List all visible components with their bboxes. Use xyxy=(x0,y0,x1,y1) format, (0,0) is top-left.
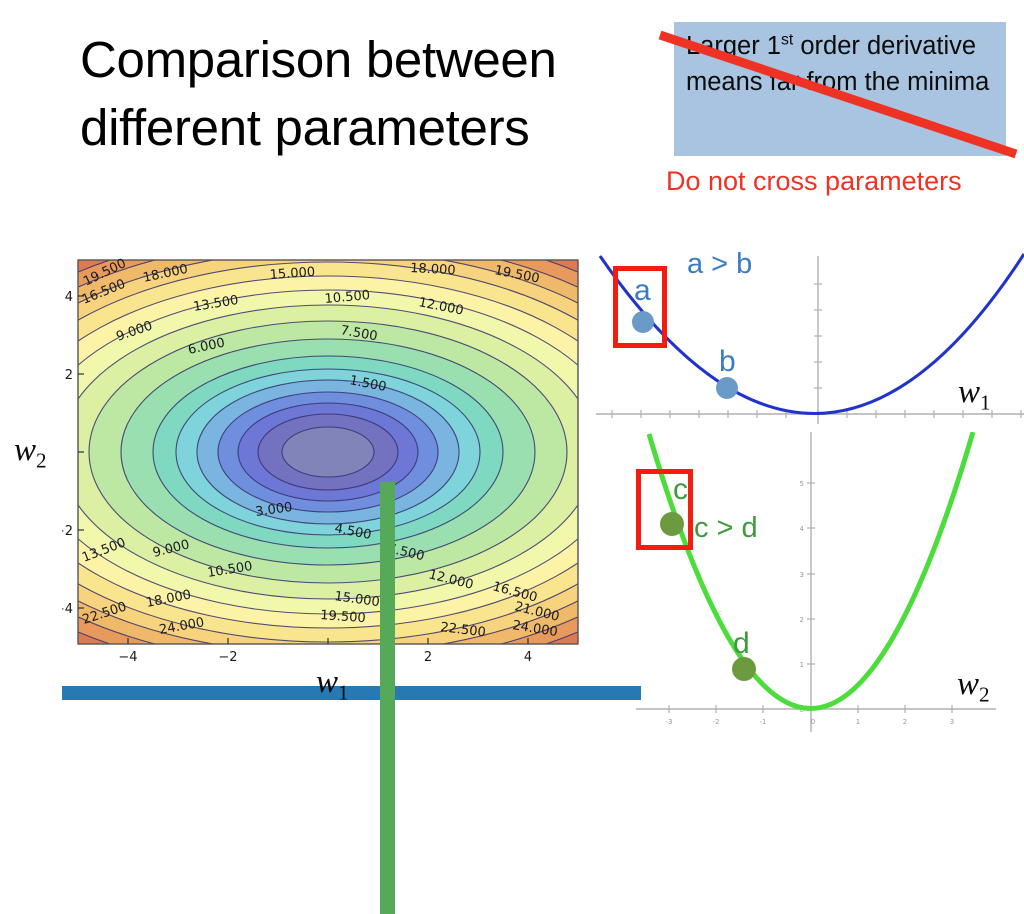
svg-text:c: c xyxy=(718,609,722,617)
contour-plot: 19.500 18.000 16.500 15.000 18.000 19.50… xyxy=(62,244,582,684)
point-label-a: a xyxy=(634,274,651,308)
svg-text:2: 2 xyxy=(800,616,804,624)
svg-text:15.000: 15.000 xyxy=(269,265,315,283)
comparison-label-c-gt-d: c > d xyxy=(694,512,758,545)
contour-axis-label-w2: w2 xyxy=(14,432,47,469)
comparison-label-a-gt-b: a > b xyxy=(687,248,752,281)
contour-svg: 19.500 18.000 16.500 15.000 18.000 19.50… xyxy=(62,244,582,684)
y-tick-4: 4 xyxy=(65,290,73,305)
chart-axis-label-w1: w1 xyxy=(958,374,991,411)
svg-text:1: 1 xyxy=(800,661,804,669)
svg-text:-3: -3 xyxy=(666,718,673,726)
x-tick--4: −4 xyxy=(118,650,137,665)
point-label-d: d xyxy=(733,627,750,661)
y-tick--2: −2 xyxy=(62,524,73,539)
w1-subscript: 1 xyxy=(980,391,991,415)
y-tick--4: −4 xyxy=(62,602,73,617)
chart-axis-label-w2: w2 xyxy=(957,666,990,703)
svg-text:3: 3 xyxy=(800,571,804,579)
w1-subscript: 1 xyxy=(338,681,349,705)
data-point-b xyxy=(716,377,738,399)
page-title: Comparison between different parameters xyxy=(80,26,650,163)
x-tick-2: 2 xyxy=(424,650,432,665)
callout-text: Larger 1st order derivative means far fr… xyxy=(686,28,1002,100)
w2-letter: w xyxy=(14,432,36,468)
svg-text:2: 2 xyxy=(903,718,907,726)
w1-letter: w xyxy=(958,374,980,410)
y-tick-2: 2 xyxy=(65,368,73,383)
w2-subscript: 2 xyxy=(36,449,47,473)
callout-text-part1: Larger 1 xyxy=(686,32,781,60)
svg-text:5: 5 xyxy=(800,480,804,488)
svg-text:18.000: 18.000 xyxy=(410,261,456,278)
svg-text:3: 3 xyxy=(950,718,954,726)
contour-axis-label-w1: w1 xyxy=(316,664,349,701)
svg-text:19.500: 19.500 xyxy=(320,608,366,626)
svg-text:-2: -2 xyxy=(713,718,720,726)
w2-letter: w xyxy=(957,666,979,702)
svg-text:-1: -1 xyxy=(760,718,767,726)
point-label-b: b xyxy=(719,345,736,379)
w2-subscript: 2 xyxy=(979,683,990,707)
ordinal-superscript: st xyxy=(781,32,793,49)
x-tick--2: −2 xyxy=(218,650,237,665)
highlight-band-horizontal xyxy=(62,686,641,700)
svg-text:4: 4 xyxy=(800,525,805,533)
x-tick-4: 4 xyxy=(524,650,532,665)
point-label-c: c xyxy=(673,473,688,507)
warning-text: Do not cross parameters xyxy=(666,166,962,197)
svg-text:1: 1 xyxy=(856,718,860,726)
svg-text:0: 0 xyxy=(811,718,815,726)
highlight-band-vertical xyxy=(380,482,395,914)
w1-letter: w xyxy=(316,664,338,700)
